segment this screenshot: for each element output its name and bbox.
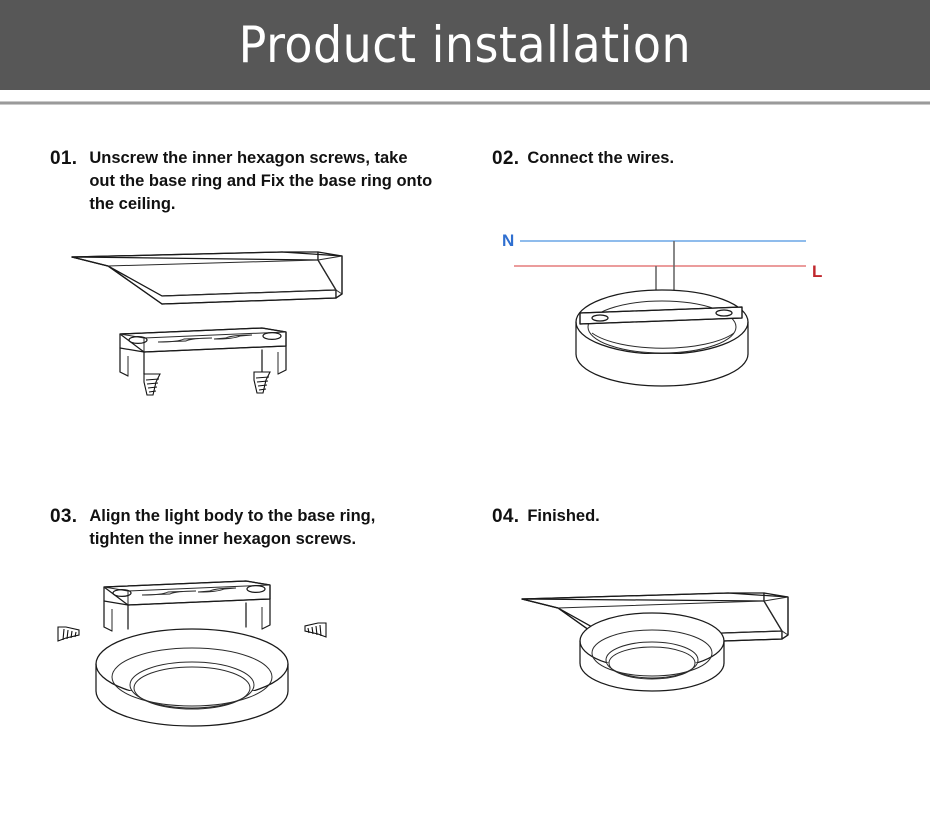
step-01-heading: 01. Unscrew the inner hexagon screws, ta… [50,147,480,216]
screw-icon-left [144,374,160,395]
align-light-body-diagram [50,569,340,744]
page-header: Product installation [0,0,930,90]
mounting-bracket-icon [120,328,286,376]
page-title: Product installation [239,20,691,70]
light-body-icon [580,613,724,691]
step-03-heading: 03. Align the light body to the base rin… [50,505,480,551]
light-body-icon [96,629,288,726]
step-02: 02. Connect the wires. N L [492,147,922,395]
ceiling-panel-and-base-ring-diagram [50,222,380,397]
step-02-text: Connect the wires. [527,147,674,170]
step-04-number: 04. [492,505,519,529]
screw-icon-right [254,372,270,393]
lamp-body-icon [576,290,748,386]
live-wire-group: L [514,262,822,281]
step-03-number: 03. [50,505,77,529]
neutral-wire-label: N [502,231,514,250]
step-03-text: Align the light body to the base ring, t… [89,505,434,551]
header-divider-wrap [0,90,930,105]
screw-icon-left [58,627,79,641]
step-01: 01. Unscrew the inner hexagon screws, ta… [50,147,480,397]
step-01-text: Unscrew the inner hexagon screws, take o… [89,147,434,216]
step-04-text: Finished. [527,505,599,528]
mounting-bracket-icon [104,581,270,631]
ceiling-panel-icon [72,252,342,304]
finished-lamp-diagram [492,573,832,733]
step-03-figure [50,569,480,744]
step-04-heading: 04. Finished. [492,505,922,529]
step-01-number: 01. [50,147,77,171]
step-04: 04. Finished. [492,505,922,733]
step-02-heading: 02. Connect the wires. [492,147,922,171]
wiring-diagram: N L [492,215,852,395]
step-03: 03. Align the light body to the base rin… [50,505,480,744]
live-wire-label: L [812,262,822,281]
step-01-figure [50,222,480,397]
step-02-figure: N L [492,215,922,395]
step-04-figure [492,573,922,733]
step-02-number: 02. [492,147,519,171]
screw-icon-right [305,623,326,637]
header-divider [0,101,930,105]
neutral-wire-group: N [502,231,806,250]
